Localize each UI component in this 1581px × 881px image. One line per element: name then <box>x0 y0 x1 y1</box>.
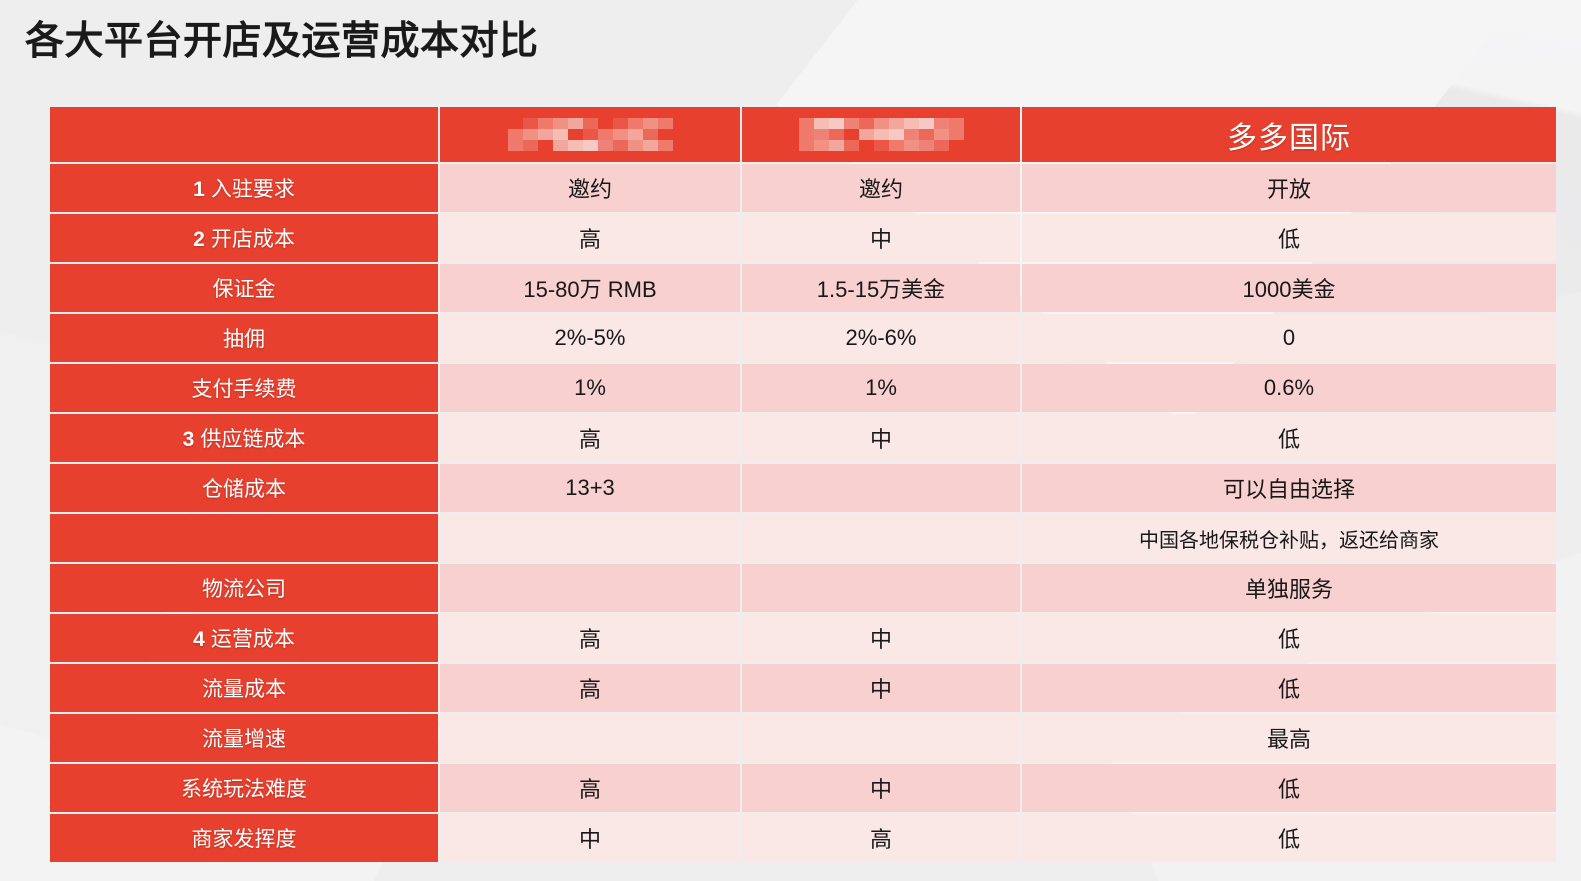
cell-platform3: 低 <box>1022 214 1556 262</box>
row-label-text: 系统玩法难度 <box>181 778 307 801</box>
cell-platform3: 低 <box>1022 814 1556 862</box>
row-number: 1 <box>193 178 205 201</box>
column-header-platform3: 多多国际 <box>1022 107 1556 162</box>
cell-platform3: 单独服务 <box>1022 564 1556 612</box>
row-label-text: 抽佣 <box>223 328 265 351</box>
mosaic-block <box>523 118 538 129</box>
row-label-支付手续费: 支付手续费 <box>50 364 438 412</box>
cell-platform2: 1% <box>742 364 1020 412</box>
cell-platform3: 低 <box>1022 664 1556 712</box>
table-row: 物流公司单独服务 <box>50 564 1556 612</box>
table-row: 3供应链成本高中低 <box>50 414 1556 462</box>
mosaic-block <box>658 129 673 140</box>
mosaic-block <box>658 118 673 129</box>
mosaic-block <box>613 129 628 140</box>
mosaic-block <box>598 140 613 151</box>
cell-platform1: 高 <box>440 214 740 262</box>
cell-platform2 <box>742 464 1020 512</box>
cell-platform1: 高 <box>440 664 740 712</box>
mosaic-block <box>919 140 934 151</box>
mosaic-block <box>628 118 643 129</box>
cell-platform3: 低 <box>1022 764 1556 812</box>
cell-platform3: 开放 <box>1022 164 1556 212</box>
row-label-物流公司: 物流公司 <box>50 564 438 612</box>
row-label-抽佣: 抽佣 <box>50 314 438 362</box>
cell-platform3: 最高 <box>1022 714 1556 762</box>
cell-platform2: 2%-6% <box>742 314 1020 362</box>
slide-page: 各大平台开店及运营成本对比 多多国际 1入驻要求邀约邀约开放2开店成本高中低保证… <box>0 0 1581 881</box>
row-number: 2 <box>193 228 205 251</box>
row-number: 3 <box>183 428 195 451</box>
mosaic-block <box>583 129 598 140</box>
table-row: 1入驻要求邀约邀约开放 <box>50 164 1556 212</box>
row-label-text: 开店成本 <box>211 228 295 251</box>
table-row: 仓储成本13+3可以自由选择 <box>50 464 1556 512</box>
row-label-开店成本: 2开店成本 <box>50 214 438 262</box>
column-header-label <box>50 107 438 162</box>
row-label-text: 运营成本 <box>211 628 295 651</box>
mosaic-block <box>874 118 889 129</box>
row-label-商家发挥度: 商家发挥度 <box>50 814 438 862</box>
mosaic-block <box>643 118 658 129</box>
row-label-text: 仓储成本 <box>202 478 286 501</box>
row-label-运营成本: 4运营成本 <box>50 614 438 662</box>
mosaic-block <box>628 129 643 140</box>
mosaic-block <box>829 118 844 129</box>
cell-platform2: 中 <box>742 764 1020 812</box>
mosaic-block <box>799 129 814 140</box>
cell-platform3: 中国各地保税仓补贴，返还给商家 <box>1022 514 1556 562</box>
cell-platform3: 可以自由选择 <box>1022 464 1556 512</box>
mosaic-block <box>799 118 814 129</box>
row-label-text: 保证金 <box>213 278 276 301</box>
cell-platform3: 低 <box>1022 414 1556 462</box>
table-row: 商家发挥度中高低 <box>50 814 1556 862</box>
cell-platform2: 中 <box>742 614 1020 662</box>
mosaic-block <box>538 140 553 151</box>
mosaic-block <box>814 118 829 129</box>
row-label-text: 入驻要求 <box>211 178 295 201</box>
cell-platform1: 2%-5% <box>440 314 740 362</box>
mosaic-block <box>799 140 814 151</box>
cell-platform3: 低 <box>1022 614 1556 662</box>
table-row: 抽佣2%-5%2%-6%0 <box>50 314 1556 362</box>
mosaic-block <box>643 129 658 140</box>
row-label-供应链成本: 3供应链成本 <box>50 414 438 462</box>
cell-platform3: 1000美金 <box>1022 264 1556 312</box>
mosaic-block <box>904 129 919 140</box>
cell-platform1 <box>440 714 740 762</box>
row-label-empty <box>50 514 438 562</box>
mosaic-block <box>643 140 658 151</box>
cell-platform1: 高 <box>440 764 740 812</box>
mosaic-block <box>874 129 889 140</box>
cell-platform3: 0.6% <box>1022 364 1556 412</box>
mosaic-block <box>628 140 643 151</box>
cell-platform1: 中 <box>440 814 740 862</box>
mosaic-block <box>523 129 538 140</box>
mosaic-block <box>553 118 568 129</box>
table-row: 2开店成本高中低 <box>50 214 1556 262</box>
cell-platform2 <box>742 714 1020 762</box>
mosaic-block <box>829 140 844 151</box>
mosaic-block <box>538 129 553 140</box>
cell-platform2: 中 <box>742 214 1020 262</box>
table-row: 系统玩法难度高中低 <box>50 764 1556 812</box>
row-label-流量成本: 流量成本 <box>50 664 438 712</box>
cell-platform1 <box>440 514 740 562</box>
mosaic-block <box>919 118 934 129</box>
mosaic-block <box>874 140 889 151</box>
mosaic-block <box>859 129 874 140</box>
mosaic-block <box>844 118 859 129</box>
mosaic-block <box>814 129 829 140</box>
mosaic-block <box>859 118 874 129</box>
mosaic-block <box>523 140 538 151</box>
row-label-保证金: 保证金 <box>50 264 438 312</box>
mosaic-block <box>904 118 919 129</box>
mosaic-block <box>583 118 598 129</box>
mosaic-block <box>904 140 919 151</box>
mosaic-block <box>553 140 568 151</box>
row-label-text: 商家发挥度 <box>192 828 297 851</box>
cell-platform2: 1.5-15万美金 <box>742 264 1020 312</box>
mosaic-block <box>934 129 949 140</box>
cell-platform1: 高 <box>440 414 740 462</box>
mosaic-block <box>829 129 844 140</box>
row-label-系统玩法难度: 系统玩法难度 <box>50 764 438 812</box>
mosaic-block <box>949 140 964 151</box>
table-row: 中国各地保税仓补贴，返还给商家 <box>50 514 1556 562</box>
row-label-text: 流量增速 <box>202 728 286 751</box>
cell-platform3: 0 <box>1022 314 1556 362</box>
cell-platform2: 中 <box>742 664 1020 712</box>
mosaic-block <box>859 140 874 151</box>
cell-platform2 <box>742 514 1020 562</box>
mosaic-block <box>658 140 673 151</box>
table-row: 流量增速最高 <box>50 714 1556 762</box>
mosaic-block <box>613 118 628 129</box>
censored-logo-icon <box>508 118 673 152</box>
row-label-text: 供应链成本 <box>200 428 305 451</box>
cell-platform2: 中 <box>742 414 1020 462</box>
table-body: 1入驻要求邀约邀约开放2开店成本高中低保证金15-80万 RMB1.5-15万美… <box>50 164 1556 862</box>
table-row: 4运营成本高中低 <box>50 614 1556 662</box>
mosaic-block <box>949 118 964 129</box>
mosaic-block <box>568 140 583 151</box>
table-header-row: 多多国际 <box>50 107 1556 162</box>
mosaic-block <box>508 129 523 140</box>
table-header: 多多国际 <box>50 107 1556 162</box>
row-number: 4 <box>193 628 205 651</box>
table-row: 保证金15-80万 RMB1.5-15万美金1000美金 <box>50 264 1556 312</box>
mosaic-block <box>598 118 613 129</box>
cell-platform1: 15-80万 RMB <box>440 264 740 312</box>
mosaic-block <box>613 140 628 151</box>
censored-logo-icon <box>799 118 964 152</box>
cell-platform1 <box>440 564 740 612</box>
mosaic-block <box>598 129 613 140</box>
mosaic-block <box>508 118 523 129</box>
mosaic-block <box>568 129 583 140</box>
mosaic-block <box>568 118 583 129</box>
column-header-platform2 <box>742 107 1020 162</box>
mosaic-block <box>583 140 598 151</box>
mosaic-block <box>934 140 949 151</box>
cell-platform1: 高 <box>440 614 740 662</box>
table-row: 流量成本高中低 <box>50 664 1556 712</box>
cost-comparison-table: 多多国际 1入驻要求邀约邀约开放2开店成本高中低保证金15-80万 RMB1.5… <box>48 105 1558 864</box>
page-title: 各大平台开店及运营成本对比 <box>25 10 539 66</box>
row-label-text: 物流公司 <box>202 578 286 601</box>
row-label-仓储成本: 仓储成本 <box>50 464 438 512</box>
row-label-流量增速: 流量增速 <box>50 714 438 762</box>
mosaic-block <box>889 129 904 140</box>
column-header-platform1 <box>440 107 740 162</box>
mosaic-block <box>814 140 829 151</box>
mosaic-block <box>508 140 523 151</box>
cell-platform2: 邀约 <box>742 164 1020 212</box>
row-label-text: 流量成本 <box>202 678 286 701</box>
cell-platform2 <box>742 564 1020 612</box>
mosaic-block <box>889 140 904 151</box>
mosaic-block <box>538 118 553 129</box>
cell-platform1: 1% <box>440 364 740 412</box>
mosaic-block <box>919 129 934 140</box>
mosaic-block <box>553 129 568 140</box>
row-label-入驻要求: 1入驻要求 <box>50 164 438 212</box>
mosaic-block <box>844 140 859 151</box>
mosaic-block <box>889 118 904 129</box>
cell-platform1: 13+3 <box>440 464 740 512</box>
row-label-text: 支付手续费 <box>192 378 297 401</box>
cell-platform1: 邀约 <box>440 164 740 212</box>
mosaic-block <box>844 129 859 140</box>
table-row: 支付手续费1%1%0.6% <box>50 364 1556 412</box>
cell-platform2: 高 <box>742 814 1020 862</box>
mosaic-block <box>949 129 964 140</box>
mosaic-block <box>934 118 949 129</box>
